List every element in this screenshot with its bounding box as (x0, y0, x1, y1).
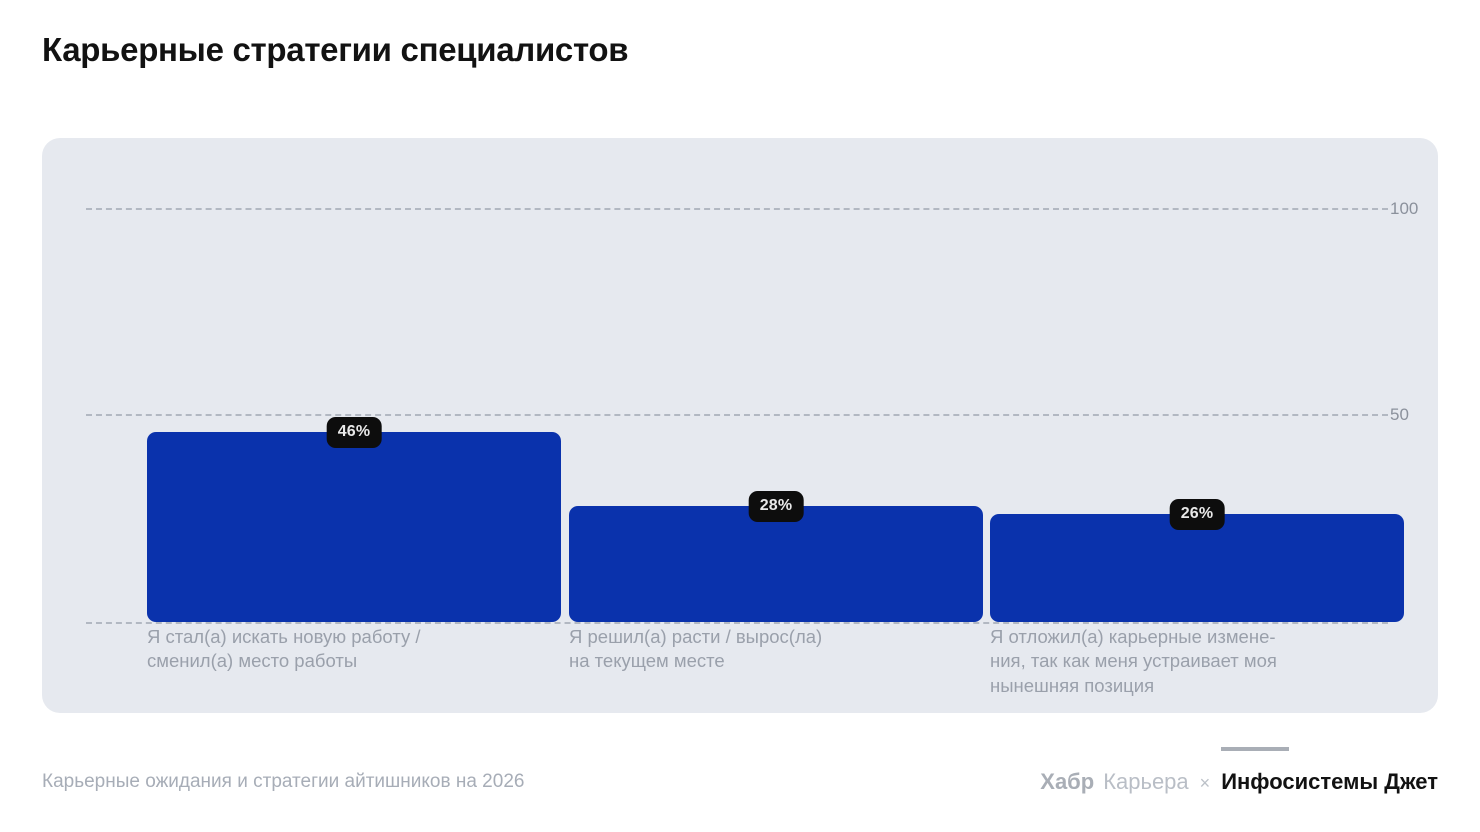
footer-brands: Хабр Карьера × Инфосистемы Джет (1040, 769, 1438, 795)
bar-group-1: 46% Я стал(а) искать новую работу / смен… (147, 138, 561, 713)
bars-row: 46% Я стал(а) искать новую работу / смен… (42, 138, 1438, 713)
bar-category-label-1: Я стал(а) искать новую работу / сменил(а… (147, 617, 561, 713)
brand-partner: Инфосистемы Джет (1221, 769, 1438, 794)
bar-1[interactable] (147, 432, 561, 622)
bar-2[interactable] (569, 506, 983, 622)
brand-habr-career: Карьера (1103, 769, 1188, 795)
bar-category-label-2: Я решил(а) расти / вырос(ла) на текущем … (569, 617, 983, 713)
bar-3[interactable] (990, 514, 1404, 622)
plot-area: 100 50 0 46% Я стал(а) искать новую рабо… (42, 138, 1438, 713)
bar-value-badge-2: 28% (749, 491, 804, 522)
bar-value-badge-1: 46% (327, 417, 382, 448)
brand-partner-wrap: Инфосистемы Джет (1221, 769, 1438, 795)
bar-group-2: 28% Я решил(а) расти / вырос(ла) на теку… (569, 138, 983, 713)
bar-group-3: 26% Я отложил(а) карьерные измене- ния, … (990, 138, 1404, 713)
bar-category-label-3: Я отложил(а) карьерные измене- ния, так … (990, 617, 1404, 713)
bar-value-badge-3: 26% (1170, 499, 1225, 530)
chart-panel: 100 50 0 46% Я стал(а) искать новую рабо… (42, 138, 1438, 713)
page-title: Карьерные стратегии специалистов (42, 31, 628, 69)
brand-separator-icon: × (1198, 773, 1213, 794)
footer-caption: Карьерные ожидания и стратегии айтишнико… (42, 771, 524, 793)
brand-partner-bar-icon (1221, 747, 1289, 751)
brand-habr: Хабр (1040, 769, 1094, 795)
